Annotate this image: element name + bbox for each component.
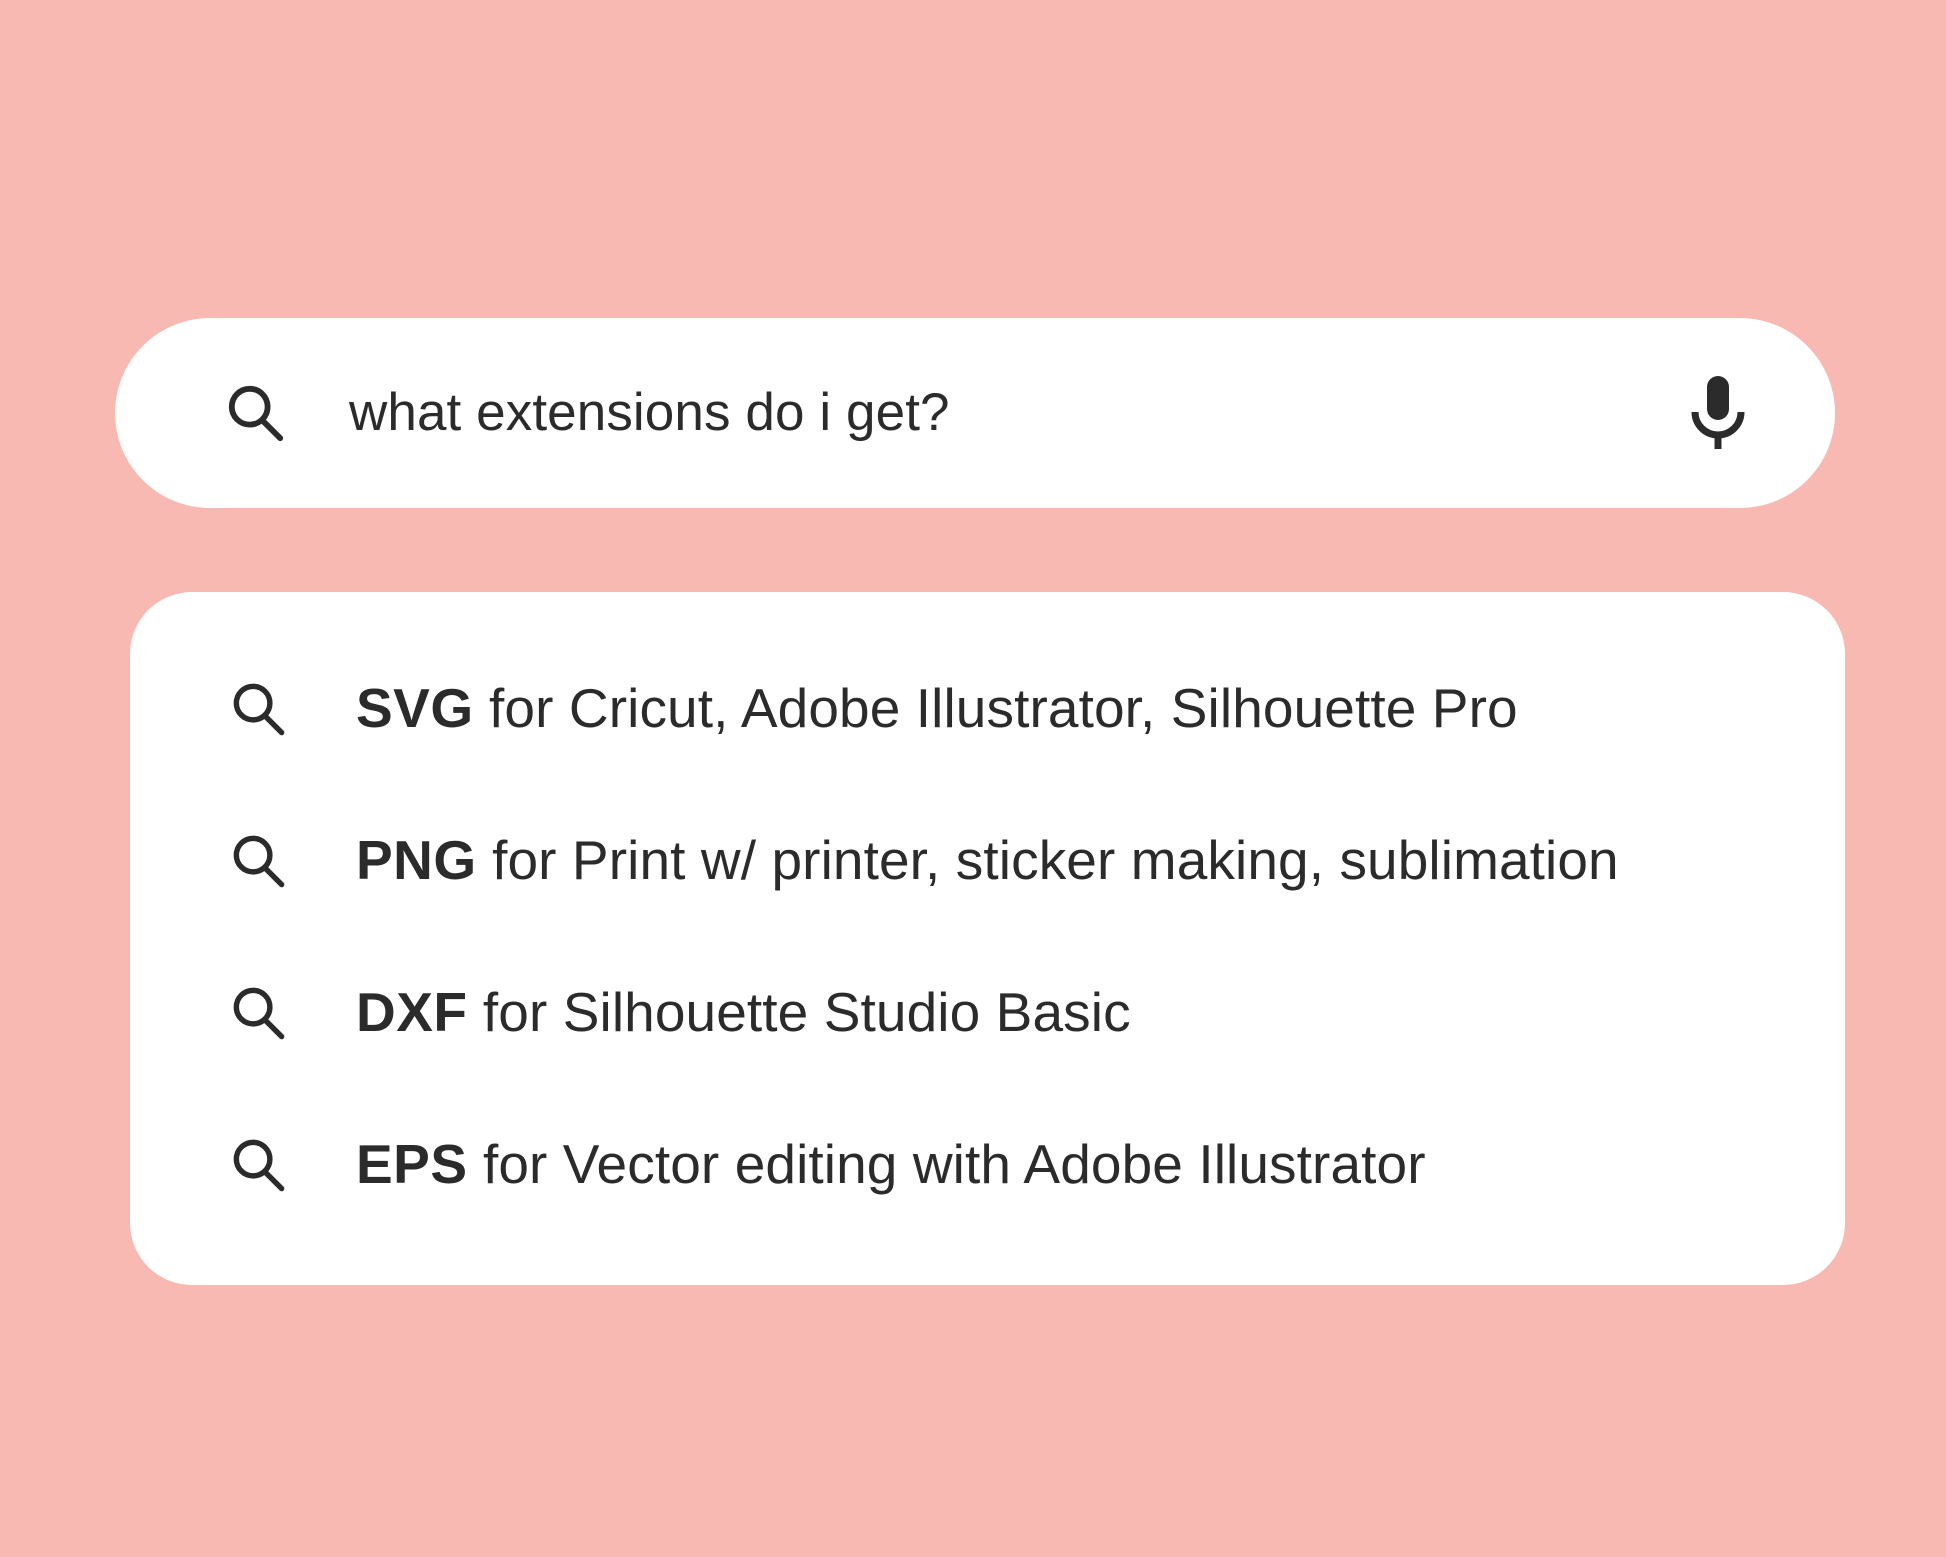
suggestion-text: EPS for Vector editing with Adobe Illust… xyxy=(356,1136,1426,1194)
suggestion-text: PNG for Print w/ printer, sticker making… xyxy=(356,832,1619,890)
search-bar[interactable]: what extensions do i get? xyxy=(115,318,1835,508)
suggestion-extension: DXF xyxy=(356,981,468,1043)
suggestion-text: DXF for Silhouette Studio Basic xyxy=(356,984,1131,1042)
search-icon xyxy=(230,1136,288,1194)
suggestions-panel: SVG for Cricut, Adobe Illustrator, Silho… xyxy=(130,592,1845,1285)
suggestion-description: for Print w/ printer, sticker making, su… xyxy=(477,829,1619,891)
suggestion-extension: SVG xyxy=(356,677,474,739)
suggestion-text: SVG for Cricut, Adobe Illustrator, Silho… xyxy=(356,680,1518,738)
search-icon xyxy=(225,382,287,444)
suggestion-description: for Vector editing with Adobe Illustrato… xyxy=(468,1133,1426,1195)
suggestion-description: for Silhouette Studio Basic xyxy=(468,981,1131,1043)
suggestion-extension: PNG xyxy=(356,829,477,891)
suggestion-row-svg[interactable]: SVG for Cricut, Adobe Illustrator, Silho… xyxy=(230,678,1775,740)
suggestion-row-eps[interactable]: EPS for Vector editing with Adobe Illust… xyxy=(230,1134,1775,1196)
suggestion-row-dxf[interactable]: DXF for Silhouette Studio Basic xyxy=(230,982,1775,1044)
search-input[interactable]: what extensions do i get? xyxy=(349,384,1689,442)
suggestion-description: for Cricut, Adobe Illustrator, Silhouett… xyxy=(474,677,1518,739)
canvas: what extensions do i get? SVG for Cricut… xyxy=(0,0,1946,1557)
suggestion-extension: EPS xyxy=(356,1133,468,1195)
microphone-icon[interactable] xyxy=(1689,374,1747,452)
suggestion-row-png[interactable]: PNG for Print w/ printer, sticker making… xyxy=(230,830,1775,892)
search-icon xyxy=(230,680,288,738)
search-icon xyxy=(230,984,288,1042)
search-icon xyxy=(230,832,288,890)
